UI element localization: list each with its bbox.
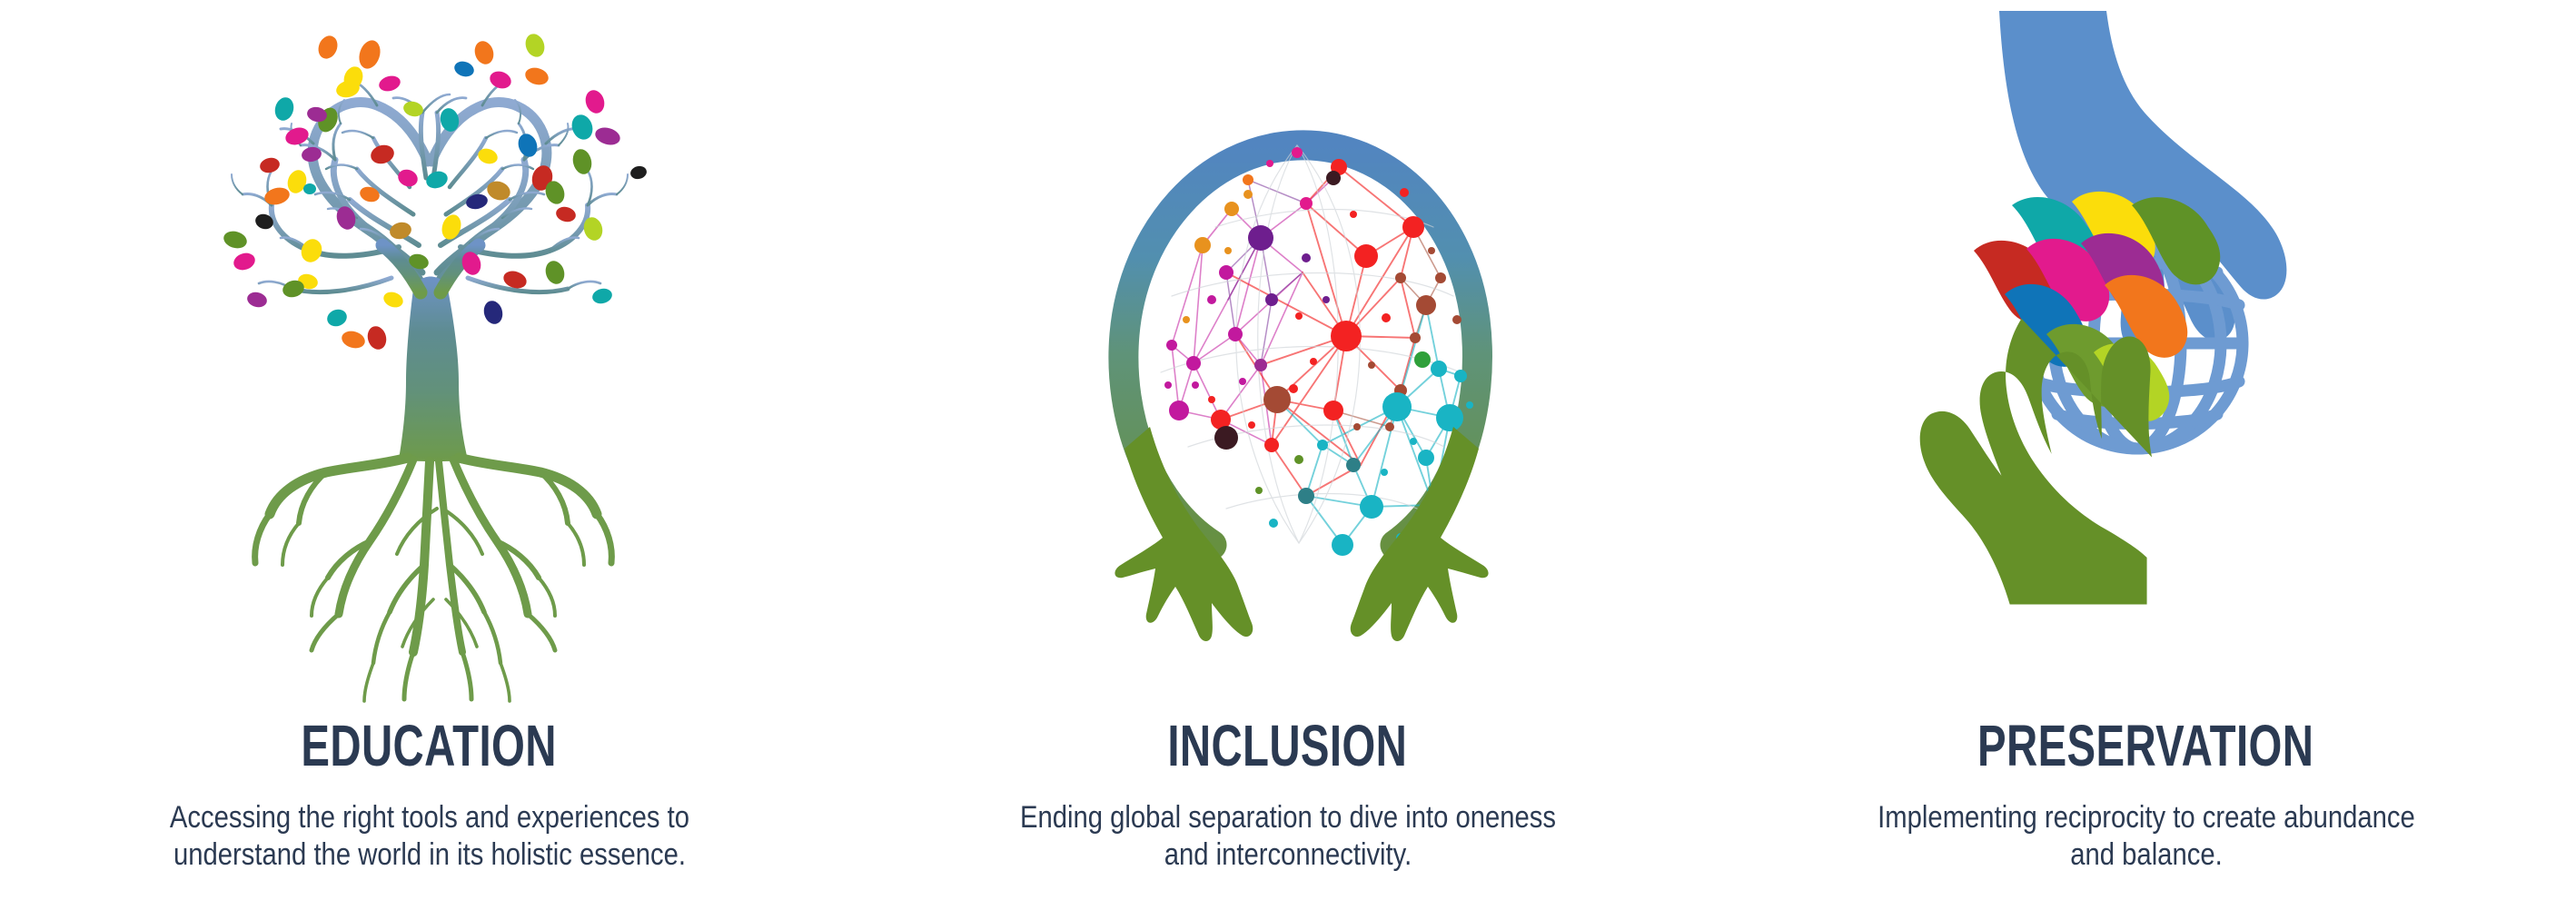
card-description-education: Accessing the right tools and experience… [117,799,742,875]
card-description-line: and balance. [1834,836,2459,874]
values-three-column-board: EDUCATION Accessing the right tools and … [0,0,2576,910]
inclusion-illustration [858,0,1717,717]
card-description-line: Ending global separation to dive into on… [976,799,1600,836]
card-title-education: EDUCATION [302,717,557,775]
tree-trunk [399,277,468,462]
hands-cradling-network-globe-icon [1034,0,1542,717]
left-hand [1115,427,1253,641]
education-illustration [0,0,858,717]
green-hand-bottom [1919,319,2151,605]
value-card-education: EDUCATION Accessing the right tools and … [0,0,858,910]
card-description-line: Implementing reciprocity to create abund… [1834,799,2459,836]
card-description-preservation: Implementing reciprocity to create abund… [1834,799,2459,875]
card-description-inclusion: Ending global separation to dive into on… [976,799,1600,875]
card-title-inclusion: INCLUSION [1168,717,1408,775]
preservation-illustration [1717,0,2575,717]
card-description-line: and interconnectivity. [976,836,1600,874]
card-description-line: Accessing the right tools and experience… [117,799,742,836]
two-hands-protecting-leafy-globe-icon [1892,0,2401,717]
tree-roots [254,458,611,701]
heart-tree-with-roots-icon [175,0,684,717]
card-title-preservation: PRESERVATION [1977,717,2313,775]
value-card-inclusion: INCLUSION Ending global separation to di… [858,0,1717,910]
value-card-preservation: PRESERVATION Implementing reciprocity to… [1717,0,2575,910]
card-description-line: understand the world in its holistic ess… [117,836,742,874]
